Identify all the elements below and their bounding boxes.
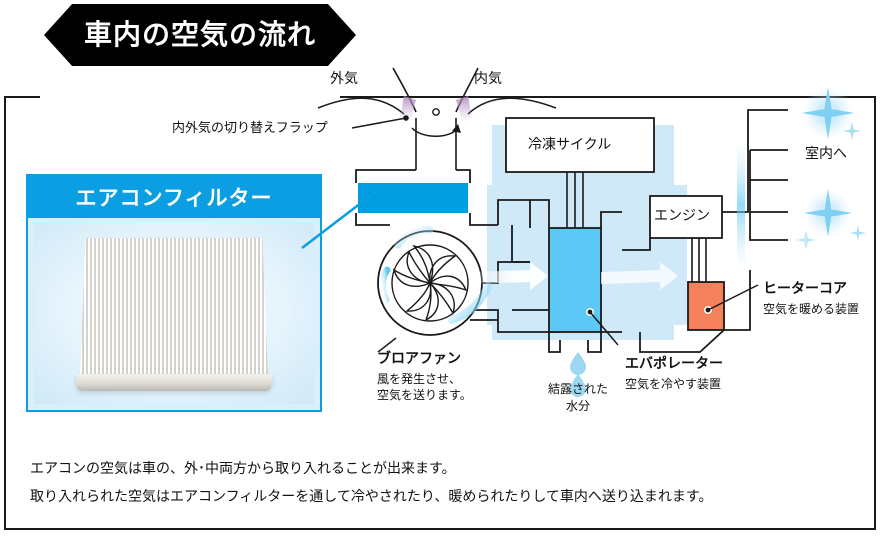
air-filter-card-header: エアコンフィルター xyxy=(28,176,320,218)
caption-block: エアコンの空気は車の、外･中両方から取り入れることが出来ます。 取り入れられた空… xyxy=(30,455,860,511)
callout-heater-core-desc1: 空気を暖める装置 xyxy=(763,302,859,318)
callout-condensation-title: 結露された xyxy=(536,382,620,398)
heater-core xyxy=(688,282,758,330)
label-engine: エンジン xyxy=(654,207,710,225)
callout-evaporator-title: エバポレーター xyxy=(625,355,723,373)
air-filter-card: エアコンフィルター xyxy=(26,174,322,412)
caption-line-1: エアコンの空気は車の、外･中両方から取り入れることが出来ます。 xyxy=(30,455,860,483)
air-filter-photo xyxy=(76,236,272,398)
label-refrigeration-cycle: 冷凍サイクル xyxy=(528,136,611,154)
label-inside-air: 内気 xyxy=(474,70,502,88)
label-outside-air: 外気 xyxy=(330,70,358,88)
label-to-cabin: 室内へ xyxy=(805,145,847,163)
filter-pleats xyxy=(80,238,268,378)
callout-evaporator-desc1: 空気を冷やす装置 xyxy=(625,377,721,393)
diagram-page: 車内の空気の流れ xyxy=(0,0,884,540)
callout-heater-core-title: ヒーターコア xyxy=(763,280,847,298)
callout-blower-fan-desc1: 風を発生させ、 xyxy=(377,372,461,388)
air-filter-leader-line xyxy=(300,186,380,250)
callout-condensation-desc1: 水分 xyxy=(536,399,620,415)
callout-blower-fan-desc2: 空気を送ります。 xyxy=(377,388,472,404)
duct-airglow xyxy=(737,140,745,270)
caption-line-2: 取り入れられた空気はエアコンフィルターを通して冷やされたり、暖められたりして車内… xyxy=(30,483,860,511)
label-intake-flap: 内外気の切り替えフラップ xyxy=(172,120,328,137)
air-filter-photo-area xyxy=(34,222,314,404)
intake-flap-vanes xyxy=(400,96,472,136)
filter-frame-lip xyxy=(76,374,272,391)
sparkle-decorations xyxy=(796,87,866,250)
callout-blower-fan-title: ブロアファン xyxy=(377,350,461,368)
air-filter-title: エアコンフィルター xyxy=(76,182,273,212)
